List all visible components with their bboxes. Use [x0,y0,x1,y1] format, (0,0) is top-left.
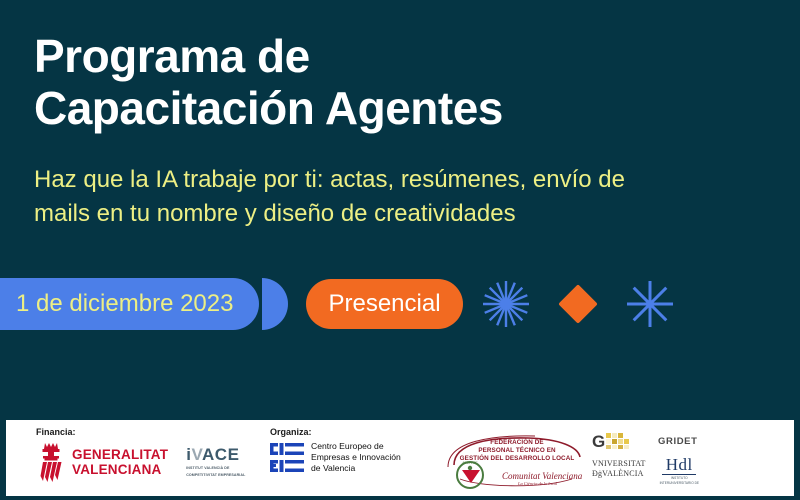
federacion-title-line-1: FEDERACIÓN DE [458,439,576,447]
ceei-line-3: de Valencia [311,463,401,474]
generalitat-line-1: GENERALITAT [72,447,168,462]
ceei-mark-icon [270,442,304,474]
universitat-line-1: VNIVERSITAT [592,459,646,469]
badge-row: 1 de diciembre 2023 Presencial [0,278,675,330]
federacion-script: Comunitat Valenciana [502,471,582,481]
date-badge-label: 1 de diciembre 2023 [16,292,233,316]
financia-group: Financia: [6,420,256,496]
modality-badge: Presencial [306,279,462,329]
subtitle-line-2: mails en tu nombre y diseño de creativid… [34,197,764,231]
financia-label: Financia: [36,427,256,437]
federacion-script-sub: La Ciència de lo local [518,481,557,486]
ivace-logo: iVACE INSTITUT VALENCIÀ DE COMPETITIVITA… [186,446,245,477]
hdl-wordmark: Hdl [660,456,699,473]
gridet-wordmark: GRIDET [658,436,698,447]
subtitle-line-1: Haz que la IA trabaje por ti: actas, res… [34,163,764,197]
federacion-title-line-2: PERSONAL TÉCNICO EN [458,447,576,455]
promotional-banner: Programa de Capacitación Agentes Haz que… [0,0,800,500]
gridet-logo: G GRI [592,432,786,450]
hdl-divider [662,474,696,475]
ivace-letter-v: V [191,445,202,464]
federacion-logo: ADLYPSE FEDERACIÓN DE PERSONAL TÉCNICO E… [440,435,582,493]
sponsor-footer: Financia: [6,420,794,496]
generalitat-wordmark: GENERALITAT VALENCIANA [72,447,168,477]
ceei-logo: Centro Europeo de Empresas e Innovación … [270,441,401,474]
hdl-sub-line-2: INTERUNIVERSITARIO DE [660,481,699,485]
gridet-mark-icon: G [592,432,650,450]
ivace-sub-line-1: INSTITUT VALENCIÀ DE [186,466,245,471]
ivace-wordmark: iVACE [186,446,245,464]
page-subtitle: Haz que la IA trabaje por ti: actas, res… [34,163,764,231]
universitat-valencia-logo: VNIVERSITAT ĐġVALÈNCIA [592,456,646,478]
ivace-letters-ace: ACE [202,445,239,464]
date-badge: 1 de diciembre 2023 [0,278,259,330]
page-title: Programa de Capacitación Agentes [34,30,754,134]
ceei-line-2: Empresas e Innovación [311,452,401,463]
sunburst-icon [481,279,531,329]
federacion-title: FEDERACIÓN DE PERSONAL TÉCNICO EN GESTIÓ… [458,439,576,463]
generalitat-valenciana-logo: GENERALITAT VALENCIANA [36,441,168,483]
university-logos-row: VNIVERSITAT ĐġVALÈNCIA Hdl INSTITUTO INT… [592,456,786,485]
ceei-line-1: Centro Europeo de [311,441,401,452]
organiza-group: Organiza: [256,420,436,496]
svg-text:G: G [592,432,605,450]
ivace-sub-line-2: COMPETITIVITAT EMPRESARIAL [186,473,245,478]
asterisk-icon [625,279,675,329]
title-line-2: Capacitación Agentes [34,82,754,134]
collaborators-group: G GRI [586,420,786,496]
hdl-sub-line-1: INSTITUTO [660,476,699,480]
title-line-1: Programa de [34,30,754,82]
federacion-title-line-3: GESTIÓN DEL DESARROLLO LOCAL [458,455,576,463]
half-circle-decoration [262,278,288,330]
hdl-logo: Hdl INSTITUTO INTERUNIVERSITARIO DE [660,456,699,485]
generalitat-line-2: VALENCIANA [72,462,168,477]
universitat-line-2: ĐġVALÈNCIA [592,469,646,479]
ceei-wordmark: Centro Europeo de Empresas e Innovación … [311,441,401,474]
federacion-group: ADLYPSE FEDERACIÓN DE PERSONAL TÉCNICO E… [436,420,586,496]
modality-badge-label: Presencial [328,292,440,316]
generalitat-emblem-icon [36,441,66,483]
organiza-label: Organiza: [270,427,436,437]
diamond-icon [553,279,603,329]
